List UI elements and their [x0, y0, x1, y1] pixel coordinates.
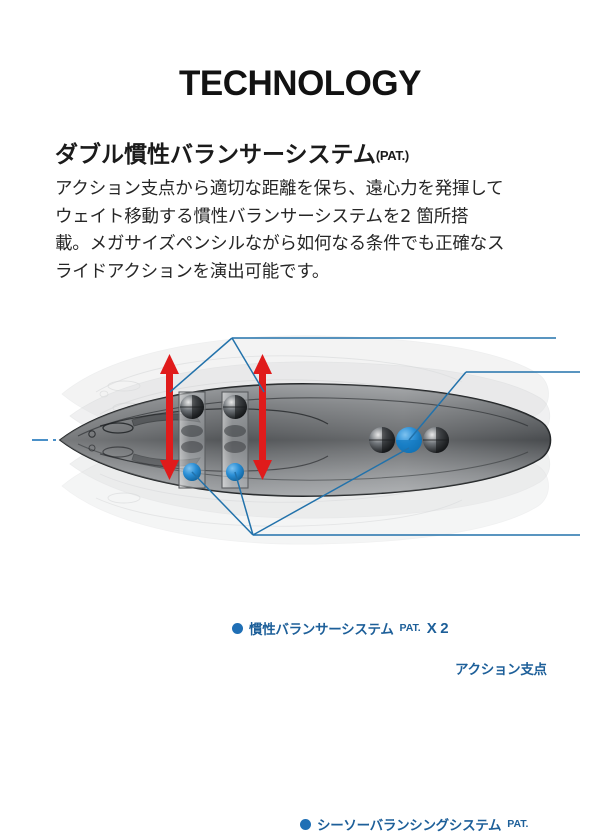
callout-balancer-multiplier: X 2 — [427, 620, 449, 637]
subtitle-pat-text: (PAT.) — [376, 148, 409, 163]
bullet-dot-icon — [232, 623, 243, 634]
callout-balancer-label: 慣性バランサーシステム — [249, 618, 394, 638]
callout-seesaw-pat: PAT. — [507, 818, 528, 830]
callout-seesaw-label: シーソーバランシングシステム — [317, 814, 501, 834]
page-title: TECHNOLOGY — [0, 64, 600, 104]
callout-action-fulcrum: アクション支点 — [455, 658, 547, 678]
body-line-1: アクション支点から適切な距離を保ち、遠心力を発揮して — [55, 176, 555, 204]
body-line-2: ウェイト移動する慣性バランサーシステムを2 箇所搭 — [55, 204, 555, 232]
body-line-3: 載。メガサイズペンシルながら如何なる条件でも正確なス — [55, 231, 555, 259]
subtitle: ダブル慣性バランサーシステム(PAT.) — [55, 135, 409, 169]
callout-balancer-pat: PAT. — [400, 622, 421, 634]
callout-inertia-balancer: 慣性バランサーシステム PAT. X 2 — [232, 618, 448, 638]
callout-seesaw-balancing: シーソーバランシングシステム PAT. — [300, 814, 528, 834]
subtitle-main-text: ダブル慣性バランサーシステム — [55, 142, 376, 168]
body-line-4: ライドアクションを演出可能です。 — [55, 259, 555, 287]
technology-page: TECHNOLOGY ダブル慣性バランサーシステム(PAT.) アクション支点か… — [0, 0, 600, 600]
balancer-chamber-front — [179, 392, 205, 488]
callout-fulcrum-label: アクション支点 — [455, 658, 547, 678]
bullet-dot-icon — [300, 819, 311, 830]
body-copy: アクション支点から適切な距離を保ち、遠心力を発揮して ウェイト移動する慣性バラン… — [55, 176, 555, 287]
lure-technology-diagram: 慣性バランサーシステム PAT. X 2 アクション支点 シーソーバランシングシ… — [0, 300, 600, 570]
